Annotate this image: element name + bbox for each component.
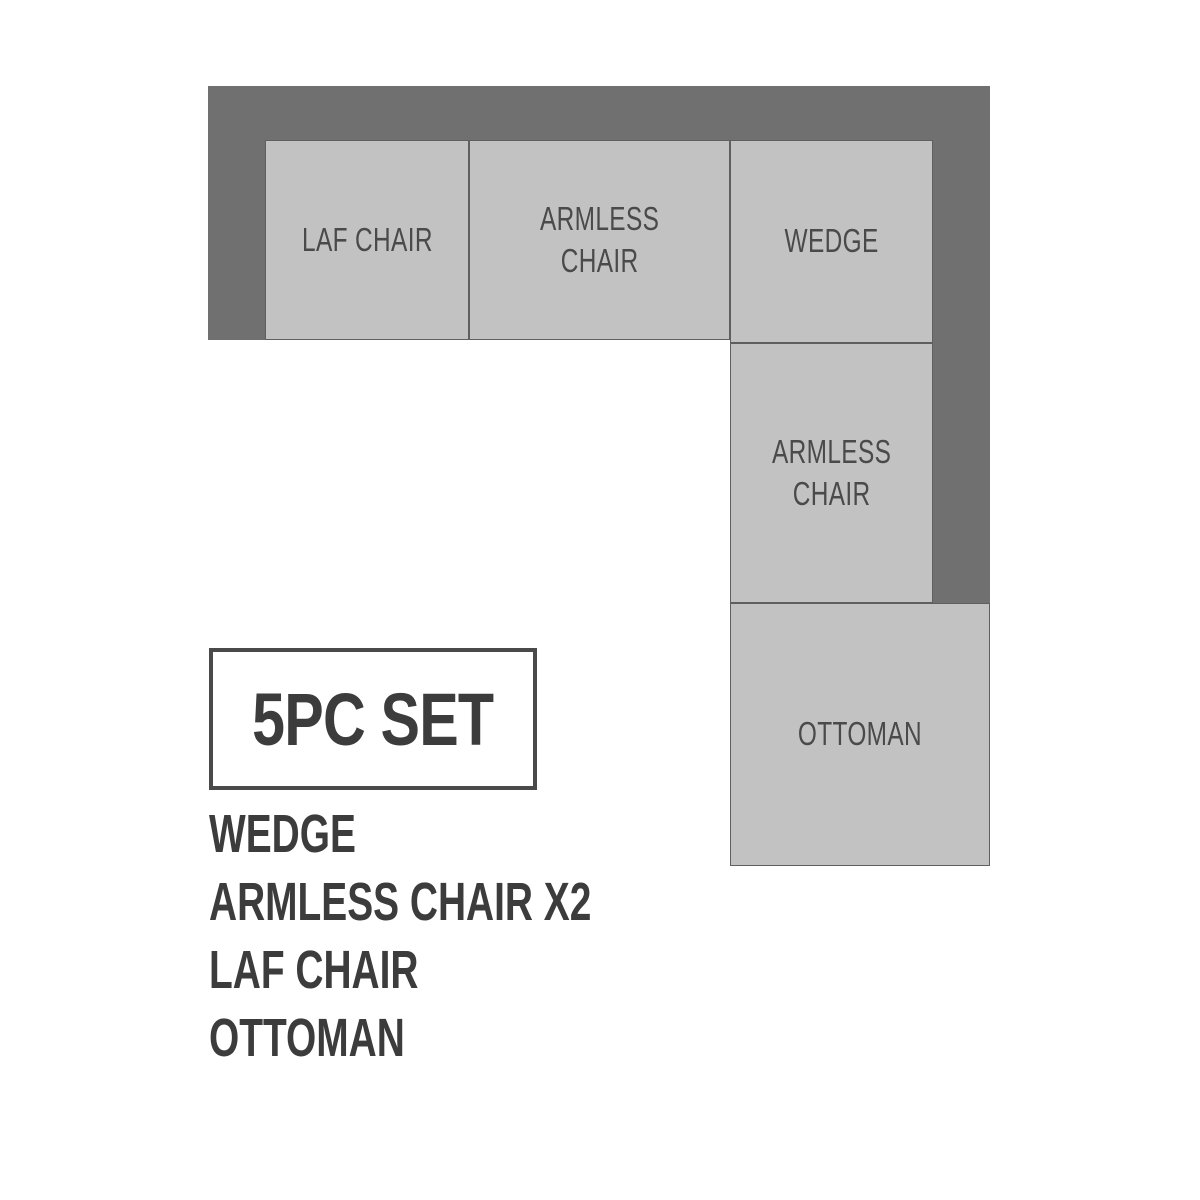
list-item: WEDGE bbox=[209, 800, 583, 868]
piece-label-armless-chair-2: ARMLESS CHAIR bbox=[772, 431, 891, 515]
list-item: LAF CHAIR bbox=[209, 936, 583, 1004]
piece-wedge[interactable]: WEDGE bbox=[730, 140, 933, 343]
piece-armless-chair-2[interactable]: ARMLESS CHAIR bbox=[730, 343, 933, 603]
set-count-label: 5PC SET bbox=[252, 677, 493, 762]
sectional-layout-page: LAF CHAIR ARMLESS CHAIR WEDGE ARMLESS CH… bbox=[0, 0, 1200, 1200]
piece-ottoman[interactable]: OTTOMAN bbox=[730, 603, 990, 866]
piece-label-laf-chair: LAF CHAIR bbox=[302, 219, 433, 261]
list-item: OTTOMAN bbox=[209, 1004, 583, 1072]
piece-label-wedge: WEDGE bbox=[784, 220, 878, 262]
set-contents-list: WEDGE ARMLESS CHAIR X2 LAF CHAIR OTTOMAN bbox=[209, 800, 729, 1072]
piece-laf-chair[interactable]: LAF CHAIR bbox=[265, 140, 469, 340]
frame-segment-left-arm bbox=[208, 86, 266, 340]
set-count-badge: 5PC SET bbox=[209, 648, 537, 790]
frame-segment-top-back bbox=[208, 86, 990, 141]
piece-armless-chair-1[interactable]: ARMLESS CHAIR bbox=[469, 140, 730, 340]
list-item: ARMLESS CHAIR X2 bbox=[209, 868, 583, 936]
frame-segment-right-arm bbox=[932, 86, 990, 604]
sectional-diagram: LAF CHAIR ARMLESS CHAIR WEDGE ARMLESS CH… bbox=[0, 0, 1200, 900]
piece-label-ottoman: OTTOMAN bbox=[798, 713, 922, 755]
piece-label-armless-chair-1: ARMLESS CHAIR bbox=[540, 198, 659, 282]
